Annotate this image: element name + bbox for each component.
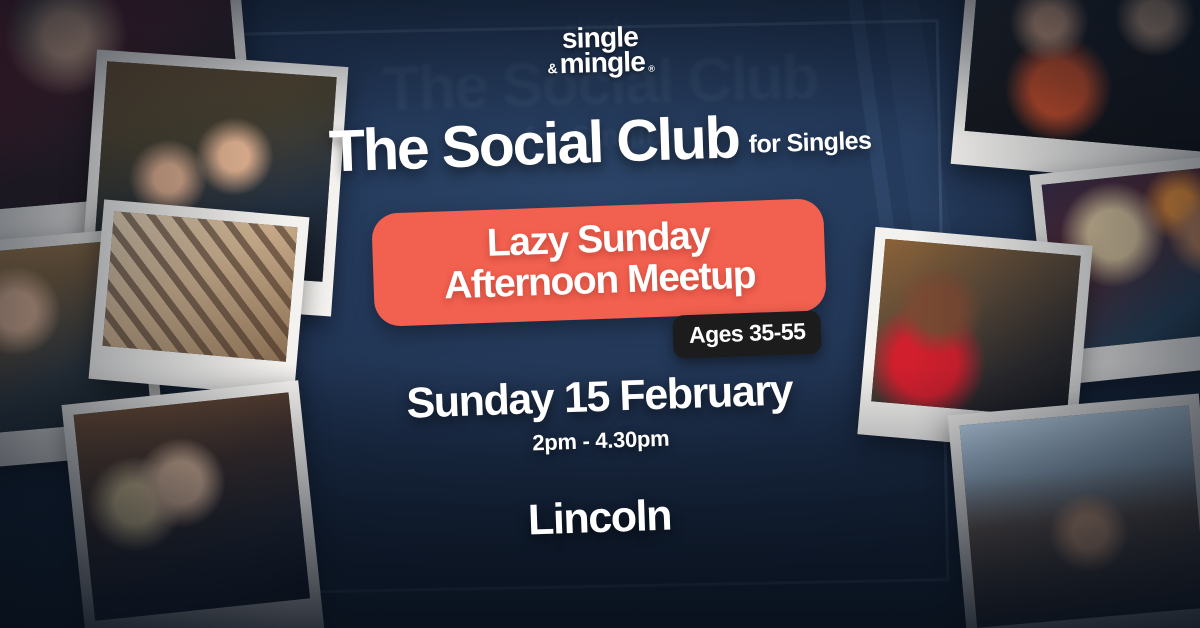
headline-main: The Social Club [328, 108, 739, 181]
logo-word-mingle: mingle [559, 49, 645, 76]
logo-word-mingle-row: & mingle ® [547, 49, 654, 76]
brand-logo: single & mingle ® [546, 25, 654, 77]
age-range-badge: Ages 35-55 [672, 311, 822, 359]
event-poster: single The Social Club for Singles singl… [0, 0, 1200, 628]
event-time: 2pm - 4.30pm [408, 422, 795, 461]
event-date-block: Sunday 15 February 2pm - 4.30pm [406, 370, 794, 461]
logo-ampersand: & [547, 62, 557, 77]
event-date: Sunday 15 February [406, 370, 793, 426]
event-name-banner: Lazy Sunday Afternoon Meetup [371, 198, 827, 327]
event-city: Lincoln [528, 492, 673, 546]
headline-subtitle: for Singles [748, 127, 872, 167]
registered-trademark-icon: ® [648, 66, 654, 74]
page-title: The Social Club for Singles [328, 104, 872, 182]
event-banner-zone: Lazy Sunday Afternoon Meetup Ages 35-55 [365, 200, 835, 350]
poster-content: single & mingle ® The Social Club for Si… [0, 0, 1200, 628]
